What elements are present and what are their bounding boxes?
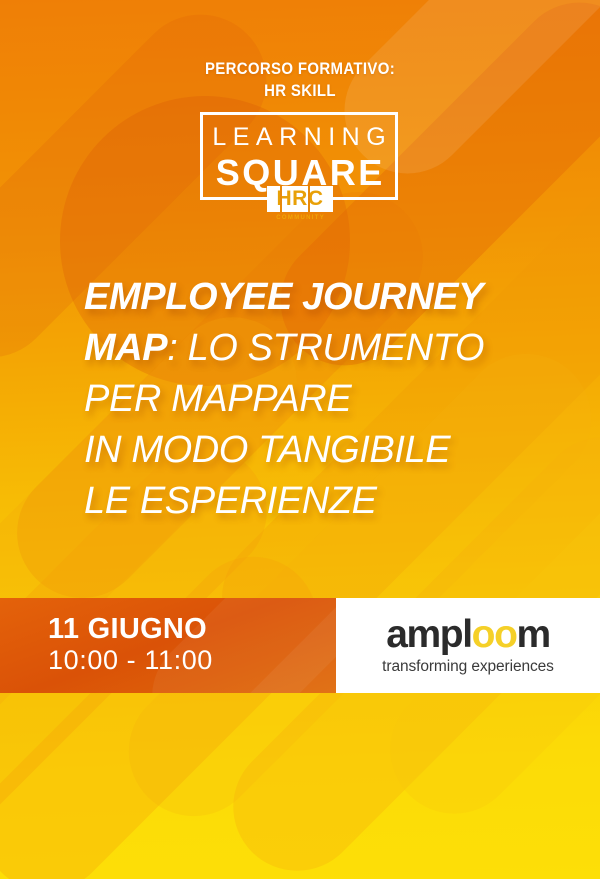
hrc-badge-text: HRC bbox=[267, 186, 333, 212]
hrc-mark: HRC bbox=[267, 186, 333, 212]
amploom-name-oo: oo bbox=[472, 613, 517, 656]
event-time: 10:00 - 11:00 bbox=[48, 646, 213, 674]
promotional-poster: PERCORSO FORMATIVO: HR SKILL LEARNING SQ… bbox=[0, 0, 600, 879]
amploom-logo: amploom transforming experiences bbox=[382, 615, 554, 675]
amploom-name-part2: m bbox=[517, 613, 550, 656]
headline-line-1-strong: EMPLOYEE JOURNEY bbox=[84, 276, 483, 318]
decor-capsule-11 bbox=[0, 530, 344, 879]
headline-line-3: PER MAPPARE bbox=[84, 374, 554, 425]
headline-line-4: IN MODO TANGIBILE bbox=[84, 425, 554, 476]
amploom-tagline: transforming experiences bbox=[382, 658, 554, 675]
kicker-line-2: HR SKILL bbox=[36, 80, 564, 102]
kicker-text: PERCORSO FORMATIVO: HR SKILL bbox=[36, 58, 564, 102]
headline-line-2-light: : LO STRUMENTO bbox=[167, 327, 484, 369]
headline-line-2: MAP: LO STRUMENTO bbox=[84, 323, 554, 374]
headline-line-5: LE ESPERIENZE bbox=[84, 476, 554, 527]
page-title: EMPLOYEE JOURNEY MAP: LO STRUMENTO PER M… bbox=[84, 272, 554, 527]
amploom-name-part1: ampl bbox=[386, 613, 471, 656]
hrc-divider-right bbox=[308, 186, 310, 212]
event-date-band: 11 GIUGNO 10:00 - 11:00 bbox=[0, 598, 336, 693]
logo-line-learning: LEARNING bbox=[203, 125, 395, 150]
amploom-wordmark: amploom bbox=[382, 615, 554, 654]
hrc-community-badge: HRC COMMUNITY bbox=[267, 186, 333, 221]
headline-line-2-strong: MAP bbox=[84, 327, 167, 369]
headline-line-1: EMPLOYEE JOURNEY bbox=[84, 272, 554, 323]
kicker-line-1: PERCORSO FORMATIVO: bbox=[205, 59, 395, 78]
sponsor-logo-panel: amploom transforming experiences bbox=[336, 598, 600, 693]
hrc-divider-left bbox=[280, 186, 282, 212]
hrc-badge-subtitle: COMMUNITY bbox=[267, 215, 333, 221]
event-date: 11 GIUGNO bbox=[48, 614, 207, 644]
